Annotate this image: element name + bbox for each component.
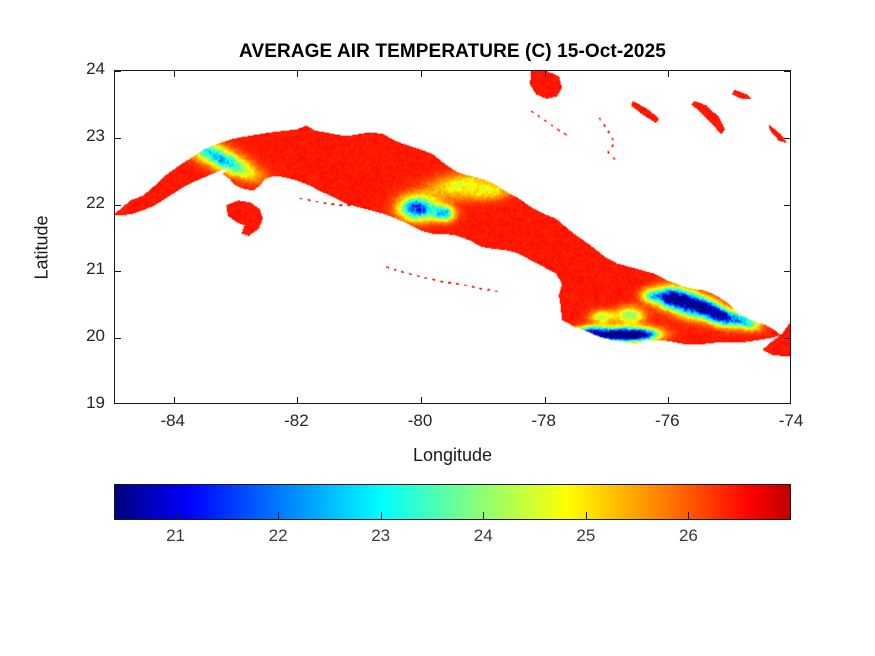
x-tick-mark xyxy=(421,397,422,403)
colorbar-gradient xyxy=(114,484,791,520)
map-axes[interactable] xyxy=(114,70,791,404)
page-title: AVERAGE AIR TEMPERATURE (C) 15-Oct-2025 xyxy=(114,41,791,63)
x-tick-label: -78 xyxy=(509,411,579,431)
x-tick-mark xyxy=(174,397,175,403)
y-tick-mark xyxy=(115,205,121,206)
colorbar-tick-label: 26 xyxy=(658,526,718,546)
colorbar-tick-label: 24 xyxy=(453,526,513,546)
colorbar-tick-mark xyxy=(688,512,689,519)
x-tick-mark xyxy=(545,397,546,403)
y-tick-mark xyxy=(115,71,121,72)
y-tick-mark xyxy=(115,271,121,272)
colorbar[interactable] xyxy=(114,484,791,520)
x-tick-mark xyxy=(297,71,298,77)
temperature-heatmap xyxy=(115,71,790,403)
x-tick-mark xyxy=(545,71,546,77)
colorbar-tick-label: 21 xyxy=(146,526,206,546)
colorbar-tick-label: 25 xyxy=(556,526,616,546)
colorbar-tick-mark xyxy=(381,512,382,519)
colorbar-tick-mark xyxy=(278,512,279,519)
y-tick-mark xyxy=(784,338,790,339)
y-tick-label: 24 xyxy=(45,59,105,79)
y-tick-label: 19 xyxy=(45,393,105,413)
y-tick-mark xyxy=(784,71,790,72)
y-tick-mark xyxy=(784,205,790,206)
y-tick-label: 20 xyxy=(45,326,105,346)
x-tick-mark xyxy=(297,397,298,403)
y-tick-label: 21 xyxy=(45,259,105,279)
colorbar-tick-mark xyxy=(176,512,177,519)
y-axis-label: Latitude xyxy=(32,148,53,348)
x-tick-mark xyxy=(668,397,669,403)
x-axis-label: Longitude xyxy=(114,445,791,466)
y-tick-mark xyxy=(784,138,790,139)
y-tick-mark xyxy=(115,138,121,139)
figure-canvas: AVERAGE AIR TEMPERATURE (C) 15-Oct-2025 … xyxy=(0,0,875,656)
x-tick-mark xyxy=(668,71,669,77)
x-tick-label: -80 xyxy=(385,411,455,431)
colorbar-tick-mark xyxy=(586,512,587,519)
x-tick-label: -76 xyxy=(632,411,702,431)
x-tick-label: -82 xyxy=(261,411,331,431)
y-tick-label: 22 xyxy=(45,193,105,213)
colorbar-tick-mark xyxy=(483,512,484,519)
x-tick-label: -74 xyxy=(756,411,826,431)
x-tick-mark xyxy=(421,71,422,77)
colorbar-tick-label: 22 xyxy=(248,526,308,546)
y-tick-label: 23 xyxy=(45,126,105,146)
y-tick-mark xyxy=(784,271,790,272)
x-tick-mark xyxy=(174,71,175,77)
y-tick-mark xyxy=(115,338,121,339)
x-tick-label: -84 xyxy=(138,411,208,431)
colorbar-tick-label: 23 xyxy=(351,526,411,546)
